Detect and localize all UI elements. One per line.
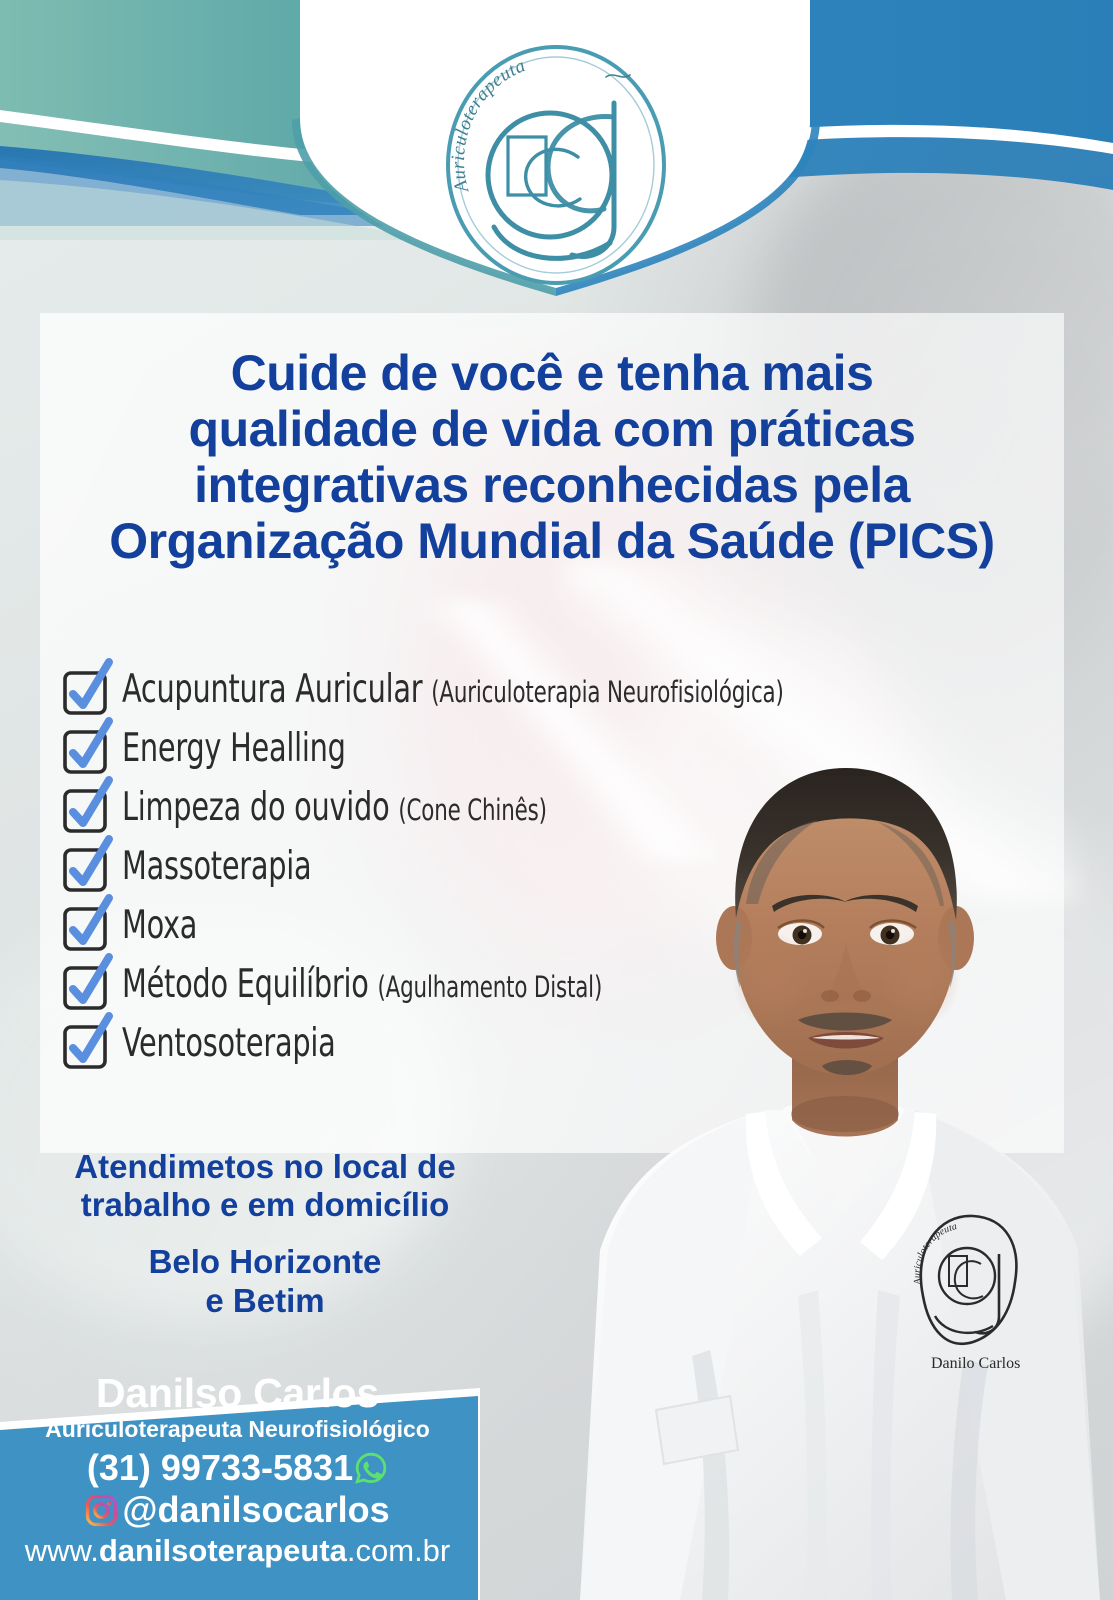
practitioner-name: Danilso Carlos bbox=[0, 1372, 475, 1415]
checked-checkbox-icon[interactable] bbox=[62, 729, 102, 769]
service-label: Ventosoterapia bbox=[122, 1024, 335, 1063]
service-label: Método Equilíbrio (Agulhamento Distal) bbox=[122, 965, 602, 1004]
headline-line-3: integrativas reconhecidas pela bbox=[40, 457, 1064, 513]
website-url[interactable]: www.danilsoterapeuta.com.br bbox=[0, 1533, 475, 1569]
instagram-icon[interactable] bbox=[85, 1494, 118, 1527]
header-banner: Auriculoterapeuta bbox=[0, 0, 1113, 300]
service-label: Energy Healling bbox=[122, 729, 346, 768]
practitioner-role: Auriculoterapeuta Neurofisiológico bbox=[0, 1416, 475, 1444]
checked-checkbox-icon[interactable] bbox=[62, 906, 102, 946]
contact-block: Danilso Carlos Auriculoterapeuta Neurofi… bbox=[0, 1372, 475, 1569]
website-prefix: www. bbox=[25, 1533, 99, 1568]
instagram-handle[interactable]: @danilsocarlos bbox=[0, 1490, 475, 1530]
service-label: Moxa bbox=[122, 906, 197, 945]
headline-line-1: Cuide de você e tenha mais bbox=[40, 345, 1064, 401]
headline-line-4: Organização Mundial da Saúde (PICS) bbox=[40, 513, 1064, 569]
service-note-line-1: Atendimetos no local de bbox=[30, 1148, 500, 1186]
checked-checkbox-icon[interactable] bbox=[62, 965, 102, 1005]
phone-text: (31) 99733-5831 bbox=[87, 1448, 353, 1488]
service-label: Limpeza do ouvido (Cone Chinês) bbox=[122, 788, 547, 827]
service-note: Atendimetos no local de trabalho e em do… bbox=[30, 1148, 500, 1225]
headline-line-2: qualidade de vida com práticas bbox=[40, 401, 1064, 457]
poster-root: Auriculoterapeuta Cuide de você e tenha … bbox=[0, 0, 1113, 1600]
checked-checkbox-icon[interactable] bbox=[62, 670, 102, 710]
checked-checkbox-icon[interactable] bbox=[62, 1024, 102, 1064]
whatsapp-icon[interactable] bbox=[354, 1451, 388, 1485]
city-line-2: e Betim bbox=[30, 1282, 500, 1321]
practitioner-photo: Auriculoterapeuta Danilo Carlos bbox=[560, 690, 1113, 1600]
phone-number[interactable]: (31) 99733-5831 bbox=[0, 1448, 475, 1488]
service-label: Massoterapia bbox=[122, 847, 311, 886]
cities-served: Belo Horizonte e Betim bbox=[30, 1243, 500, 1321]
svg-text:Danilo Carlos: Danilo Carlos bbox=[931, 1355, 1020, 1372]
instagram-text: @danilsocarlos bbox=[122, 1490, 389, 1530]
checked-checkbox-icon[interactable] bbox=[62, 847, 102, 887]
website-suffix: .com.br bbox=[347, 1533, 450, 1568]
website-main: danilsoterapeuta bbox=[99, 1533, 347, 1568]
checked-checkbox-icon[interactable] bbox=[62, 788, 102, 828]
service-note-line-2: trabalho e em domicílio bbox=[30, 1186, 500, 1224]
city-line-1: Belo Horizonte bbox=[30, 1243, 500, 1282]
page-title: Cuide de você e tenha mais qualidade de … bbox=[40, 345, 1064, 569]
